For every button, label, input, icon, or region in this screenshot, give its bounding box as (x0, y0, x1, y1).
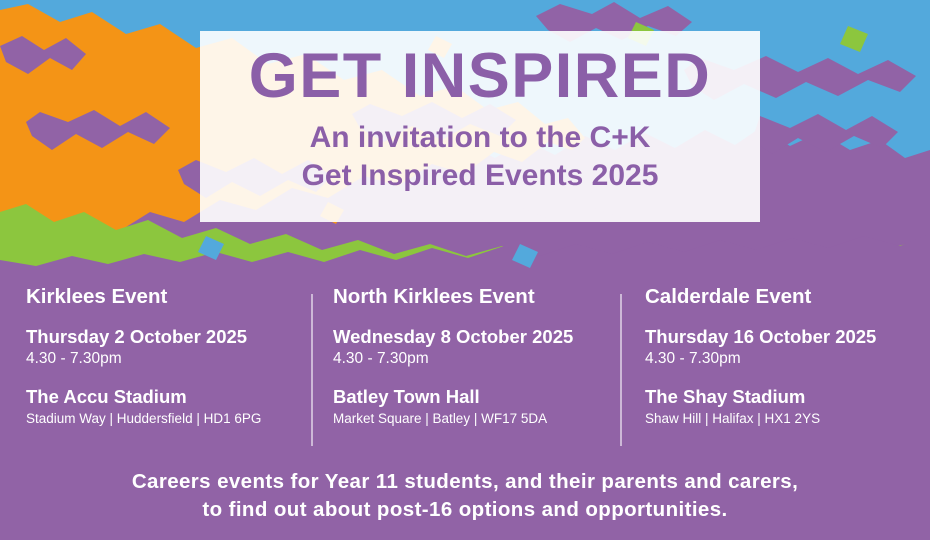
event-time: 4.30 - 7.30pm (333, 349, 606, 369)
event-address: Shaw Hill | Halifax | HX1 2YS (645, 410, 916, 428)
event-region-label: North Kirklees Event (333, 286, 606, 309)
event-address: Stadium Way | Huddersfield | HD1 6PG (26, 410, 297, 428)
page-subtitle: An invitation to the C+K Get Inspired Ev… (302, 119, 659, 195)
event-date: Thursday 2 October 2025 (26, 326, 297, 347)
column-divider (620, 294, 622, 446)
title-panel: GET INSPIRED An invitation to the C+K Ge… (200, 31, 760, 222)
event-address: Market Square | Batley | WF17 5DA (333, 410, 606, 428)
event-venue: Batley Town Hall (333, 386, 606, 407)
event-column-calderdale: Calderdale Event Thursday 16 October 202… (620, 286, 930, 451)
footer-note: Careers events for Year 11 students, and… (0, 468, 930, 525)
event-region-label: Kirklees Event (26, 286, 297, 309)
event-date: Thursday 16 October 2025 (645, 326, 916, 347)
event-time: 4.30 - 7.30pm (645, 349, 916, 369)
page-subtitle-line-1: An invitation to the C+K (302, 119, 659, 157)
event-time: 4.30 - 7.30pm (26, 349, 297, 369)
column-divider (311, 294, 313, 446)
footer-line-2: to find out about post-16 options and op… (0, 496, 930, 524)
get-inspired-poster: GET INSPIRED An invitation to the C+K Ge… (0, 0, 930, 540)
event-venue: The Shay Stadium (645, 386, 916, 407)
page-subtitle-line-2: Get Inspired Events 2025 (302, 157, 659, 195)
event-column-north-kirklees: North Kirklees Event Wednesday 8 October… (311, 286, 620, 451)
page-title: GET INSPIRED (249, 41, 712, 112)
event-column-kirklees: Kirklees Event Thursday 2 October 2025 4… (0, 286, 311, 451)
event-venue: The Accu Stadium (26, 386, 297, 407)
events-row: Kirklees Event Thursday 2 October 2025 4… (0, 286, 930, 451)
event-date: Wednesday 8 October 2025 (333, 326, 606, 347)
event-region-label: Calderdale Event (645, 286, 916, 309)
footer-line-1: Careers events for Year 11 students, and… (0, 468, 930, 496)
